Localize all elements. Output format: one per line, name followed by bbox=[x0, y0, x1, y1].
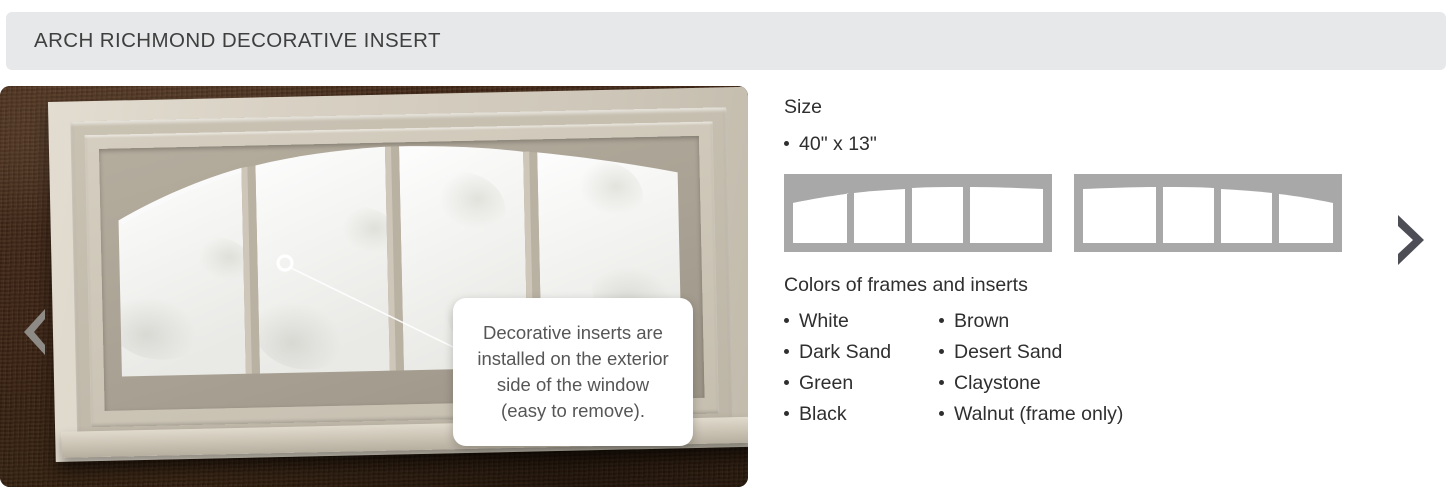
colors-column-2: Brown Desert Sand Claystone Walnut (fram… bbox=[939, 310, 1094, 434]
bullet-icon bbox=[784, 349, 789, 354]
glass-pane-2 bbox=[249, 146, 401, 373]
callout-tooltip: Decorative inserts are installed on the … bbox=[453, 298, 693, 446]
product-image-panel: Decorative inserts are installed on the … bbox=[0, 86, 748, 487]
diagram-arch-left-rising bbox=[784, 174, 1052, 252]
colors-list: White Dark Sand Green Black Br bbox=[784, 310, 1384, 434]
colors-column-1: White Dark Sand Green Black bbox=[784, 310, 939, 434]
color-label: Desert Sand bbox=[954, 341, 1062, 364]
bullet-icon bbox=[784, 141, 789, 146]
diagram-arch-right-falling bbox=[1074, 174, 1342, 252]
size-heading: Size bbox=[784, 96, 1384, 119]
product-title-bar: ARCH RICHMOND DECORATIVE INSERT bbox=[6, 12, 1446, 70]
glass-pane-1 bbox=[104, 168, 253, 377]
color-item: White bbox=[784, 310, 939, 333]
bullet-icon bbox=[784, 380, 789, 385]
callout-tooltip-text: Decorative inserts are installed on the … bbox=[463, 320, 682, 424]
color-label: Brown bbox=[954, 310, 1009, 333]
page-title: ARCH RICHMOND DECORATIVE INSERT bbox=[34, 29, 441, 53]
colors-heading: Colors of frames and inserts bbox=[784, 274, 1384, 297]
color-label: Walnut (frame only) bbox=[954, 403, 1123, 426]
size-value-item: 40" x 13" bbox=[784, 133, 1384, 156]
color-item: Walnut (frame only) bbox=[939, 403, 1094, 426]
bullet-icon bbox=[939, 411, 944, 416]
carousel-prev-button[interactable] bbox=[14, 304, 58, 360]
color-item: Brown bbox=[939, 310, 1094, 333]
color-item: Black bbox=[784, 403, 939, 426]
bullet-icon bbox=[939, 318, 944, 323]
bullet-icon bbox=[784, 318, 789, 323]
color-item: Claystone bbox=[939, 372, 1094, 395]
size-value: 40" x 13" bbox=[799, 133, 877, 156]
color-label: Dark Sand bbox=[799, 341, 891, 364]
chevron-right-icon[interactable] bbox=[1388, 211, 1434, 269]
color-label: Green bbox=[799, 372, 853, 395]
chevron-left-icon[interactable] bbox=[14, 304, 58, 360]
color-label: White bbox=[799, 310, 849, 333]
insert-diagrams bbox=[784, 174, 1384, 252]
bullet-icon bbox=[784, 411, 789, 416]
bullet-icon bbox=[939, 380, 944, 385]
product-detail-page: ARCH RICHMOND DECORATIVE INSERT bbox=[0, 0, 1452, 487]
color-label: Claystone bbox=[954, 372, 1041, 395]
color-label: Black bbox=[799, 403, 847, 426]
bullet-icon bbox=[939, 349, 944, 354]
product-info-panel: Size 40" x 13" Colors of frames bbox=[784, 96, 1384, 434]
carousel-next-button[interactable] bbox=[1388, 211, 1434, 269]
product-photo: Decorative inserts are installed on the … bbox=[0, 86, 748, 487]
color-item: Dark Sand bbox=[784, 341, 939, 364]
color-item: Desert Sand bbox=[939, 341, 1094, 364]
color-item: Green bbox=[784, 372, 939, 395]
